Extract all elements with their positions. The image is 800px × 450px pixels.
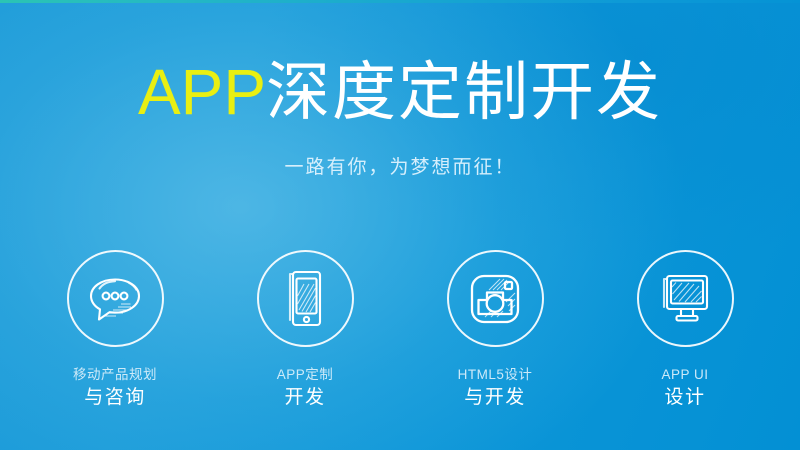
headline-rest: 深度定制开发 — [266, 56, 662, 128]
service-item-consulting[interactable]: 移动产品规划 与咨询 — [22, 250, 208, 409]
headline-highlight: APP — [138, 56, 266, 128]
service-labels: APP UI 设计 — [661, 367, 708, 409]
tablet-device-icon — [276, 268, 334, 330]
page-title: APP深度定制开发 — [0, 58, 800, 127]
service-label-bottom: 设计 — [661, 387, 708, 409]
service-item-app-development[interactable]: APP定制 开发 — [212, 250, 398, 409]
icon-circle — [257, 250, 354, 347]
speech-bubble-icon — [85, 271, 145, 327]
icon-circle — [637, 250, 734, 347]
service-label-top: APP UI — [661, 367, 708, 383]
service-label-bottom: 开发 — [277, 387, 334, 409]
service-item-html5[interactable]: HTML5设计 与开发 — [402, 250, 588, 409]
service-list: 移动产品规划 与咨询 — [0, 250, 800, 409]
desktop-monitor-icon — [654, 271, 716, 327]
page-subtitle: 一路有你，为梦想而征！ — [0, 152, 800, 179]
service-label-bottom: 与开发 — [458, 387, 533, 409]
service-labels: APP定制 开发 — [277, 367, 334, 409]
service-item-ui-design[interactable]: APP UI 设计 — [592, 250, 778, 409]
service-label-top: APP定制 — [277, 367, 334, 383]
service-labels: HTML5设计 与开发 — [458, 367, 533, 409]
service-labels: 移动产品规划 与咨询 — [73, 367, 157, 409]
service-label-bottom: 与咨询 — [73, 387, 157, 409]
icon-circle — [67, 250, 164, 347]
top-accent-strip — [0, 0, 800, 3]
promo-banner: APP深度定制开发 一路有你，为梦想而征！ — [0, 0, 800, 450]
camera-icon — [465, 269, 525, 329]
icon-circle — [447, 250, 544, 347]
service-label-top: HTML5设计 — [458, 367, 533, 383]
service-label-top: 移动产品规划 — [73, 367, 157, 383]
